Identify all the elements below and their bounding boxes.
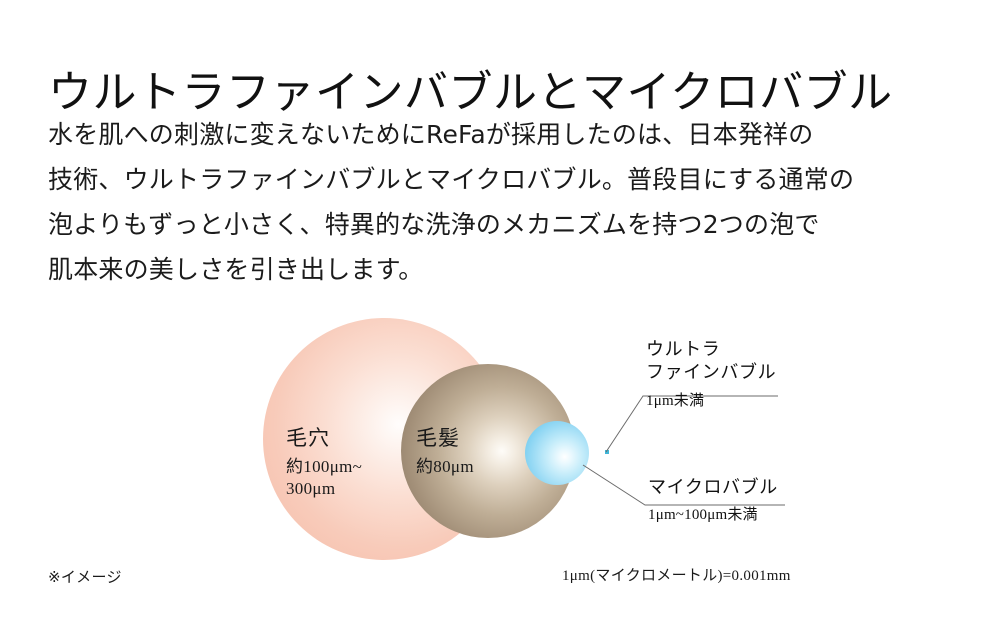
bubble-size-comparison-diagram: 毛穴 約100μm~ 300μm 毛髪 約80μm ウルトラ ファインバブル 1… [0, 296, 1000, 621]
body-paragraph: 水を肌への刺激に変えないためにReFaが採用したのは、日本発祥の 技術、ウルトラ… [48, 112, 968, 292]
body-line-3: 泡よりもずっと小さく、特異的な洗浄のメカニズムを持つ2つの泡で [48, 202, 968, 247]
ultra-fine-bubble-size: 1μm未満 [646, 391, 776, 411]
infographic-page: ウルトラファインバブルとマイクロバブル 水を肌への刺激に変えないためにReFaが… [0, 0, 1000, 621]
ultra-fine-bubble-callout: ウルトラ ファインバブル 1μm未満 [646, 338, 776, 411]
micro-bubble-callout: マイクロバブル 1μm~100μm未満 [648, 476, 778, 525]
micro-bubble-size: 1μm~100μm未満 [648, 505, 778, 525]
ultra-fine-bubble-title-line-1: ウルトラ [646, 338, 776, 361]
image-disclaimer-note: ※イメージ [48, 566, 122, 587]
micro-bubble-title: マイクロバブル [648, 476, 778, 499]
callout-leader-lines [0, 296, 1000, 621]
body-line-4: 肌本来の美しさを引き出します。 [48, 247, 968, 292]
body-line-1: 水を肌への刺激に変えないためにReFaが採用したのは、日本発祥の [48, 112, 968, 157]
body-line-2: 技術、ウルトラファインバブルとマイクロバブル。普段目にする通常の [48, 157, 968, 202]
unit-conversion-note: 1μm(マイクロメートル)=0.001mm [562, 564, 791, 585]
ultra-fine-bubble-title-line-2: ファインバブル [646, 361, 776, 384]
